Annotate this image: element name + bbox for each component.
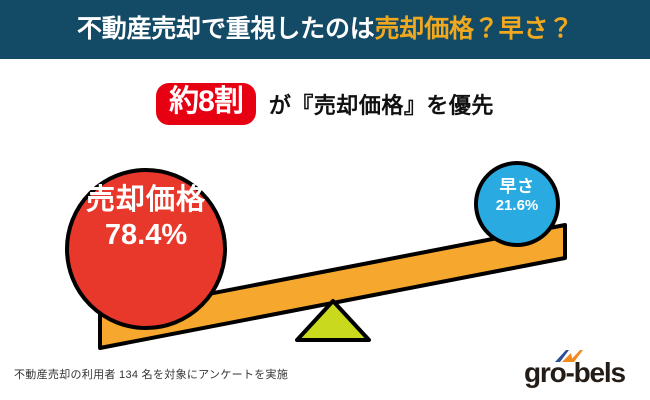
page-title-plain: 不動産売却で重視したのは bbox=[77, 15, 375, 43]
brand-logo: gro-bels bbox=[524, 349, 638, 389]
page-title-highlight: 売却価格？早さ？ bbox=[375, 15, 573, 43]
seesaw-diagram: 売却価格 78.4% 早さ 21.6% bbox=[0, 140, 650, 350]
approx-share-badge: 約8割 bbox=[156, 83, 256, 124]
logo-wordmark: gro-bels bbox=[524, 359, 638, 387]
survey-footnote: 不動産売却の利用者 134 名を対象にアンケートを実施 bbox=[14, 366, 288, 382]
header-bar: 不動産売却で重視したのは売却価格？早さ？ bbox=[0, 0, 650, 59]
seesaw-svg bbox=[0, 140, 650, 350]
infographic-canvas: 不動産売却で重視したのは売却価格？早さ？ 約8割 が『売却価格』を優先 売却価格… bbox=[0, 0, 650, 400]
bubble-price bbox=[67, 170, 225, 328]
page-title: 不動産売却で重視したのは売却価格？早さ？ bbox=[77, 17, 573, 42]
subtitle-text: が『売却価格』を優先 bbox=[269, 88, 494, 120]
bubble-speed bbox=[476, 163, 558, 245]
subtitle-row: 約8割 が『売却価格』を優先 bbox=[0, 78, 650, 130]
